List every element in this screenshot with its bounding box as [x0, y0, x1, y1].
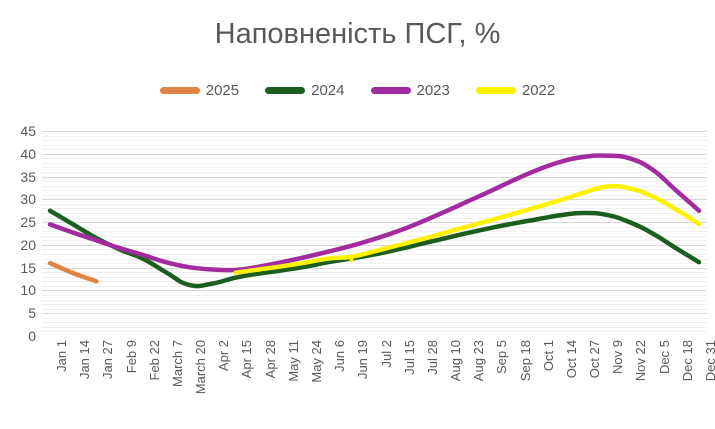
series-line-2022	[235, 186, 699, 273]
y-axis-tick-label: 15	[0, 261, 36, 275]
y-axis-tick-label: 40	[0, 147, 36, 161]
y-axis-tick-label: 10	[0, 283, 36, 297]
x-axis-tick-label: Oct 1	[542, 340, 555, 371]
x-axis-tick-label: Aug 23	[472, 340, 485, 381]
y-axis-tick-label: 25	[0, 215, 36, 229]
x-axis-tick-label: Jan 14	[78, 340, 91, 379]
x-axis-tick-label: Jun 6	[333, 340, 346, 372]
y-axis-tick-label: 45	[0, 124, 36, 138]
x-axis-tick-label: May 24	[310, 340, 323, 383]
y-axis-tick-label: 30	[0, 192, 36, 206]
x-axis-tick-label: May 11	[287, 340, 300, 382]
x-axis-tick-label: Feb 9	[125, 340, 138, 373]
x-axis-tick-label: Apr 2	[217, 340, 230, 371]
x-axis-tick-label: Jul 28	[426, 340, 439, 375]
x-axis-tick-label: Sep 5	[495, 340, 508, 374]
x-axis-tick-label: Apr 28	[264, 340, 277, 378]
x-axis-tick-label: Oct 27	[588, 340, 601, 378]
y-axis-tick-label: 35	[0, 170, 36, 184]
x-axis-tick-label: Oct 14	[565, 340, 578, 378]
y-axis-tick-label: 0	[0, 329, 36, 343]
x-axis-tick-label: Dec 5	[658, 340, 671, 374]
y-axis-tick-label: 5	[0, 306, 36, 320]
x-axis-tick-label: Jul 15	[403, 340, 416, 375]
chart-container: Наповненість ПСГ, % 2025202420232022 051…	[0, 0, 715, 429]
y-axis-tick-label: 20	[0, 238, 36, 252]
plot-area	[42, 131, 707, 336]
series-lines	[42, 131, 707, 336]
x-axis-tick-label: Aug 10	[449, 340, 462, 381]
x-axis-tick-label: Sep 18	[519, 340, 532, 381]
x-axis-tick-label: Nov 22	[634, 340, 647, 381]
x-axis-tick-label: Feb 22	[148, 340, 161, 380]
y-axis: 051015202530354045	[0, 124, 36, 340]
x-axis-tick-label: Jun 19	[356, 340, 369, 379]
x-axis-tick-label: Jan 1	[55, 340, 68, 372]
series-line-2024	[50, 211, 699, 286]
x-axis-tick-label: Jul 2	[380, 340, 393, 367]
series-line-2025	[50, 263, 96, 281]
x-axis-tick-label: Dec 31	[704, 340, 715, 381]
x-axis: Jan 1Jan 14Jan 27Feb 9Feb 22March 7March…	[42, 336, 707, 429]
x-axis-tick-label: Dec 18	[681, 340, 694, 381]
x-axis-tick-label: March 20	[194, 340, 207, 394]
x-axis-tick-label: Jan 27	[101, 340, 114, 379]
plot-wrapper: 051015202530354045 Jan 1Jan 14Jan 27Feb …	[0, 0, 715, 429]
x-axis-tick-label: Nov 9	[611, 340, 624, 374]
x-axis-tick-label: Apr 15	[240, 340, 253, 378]
x-axis-tick-label: March 7	[171, 340, 184, 387]
